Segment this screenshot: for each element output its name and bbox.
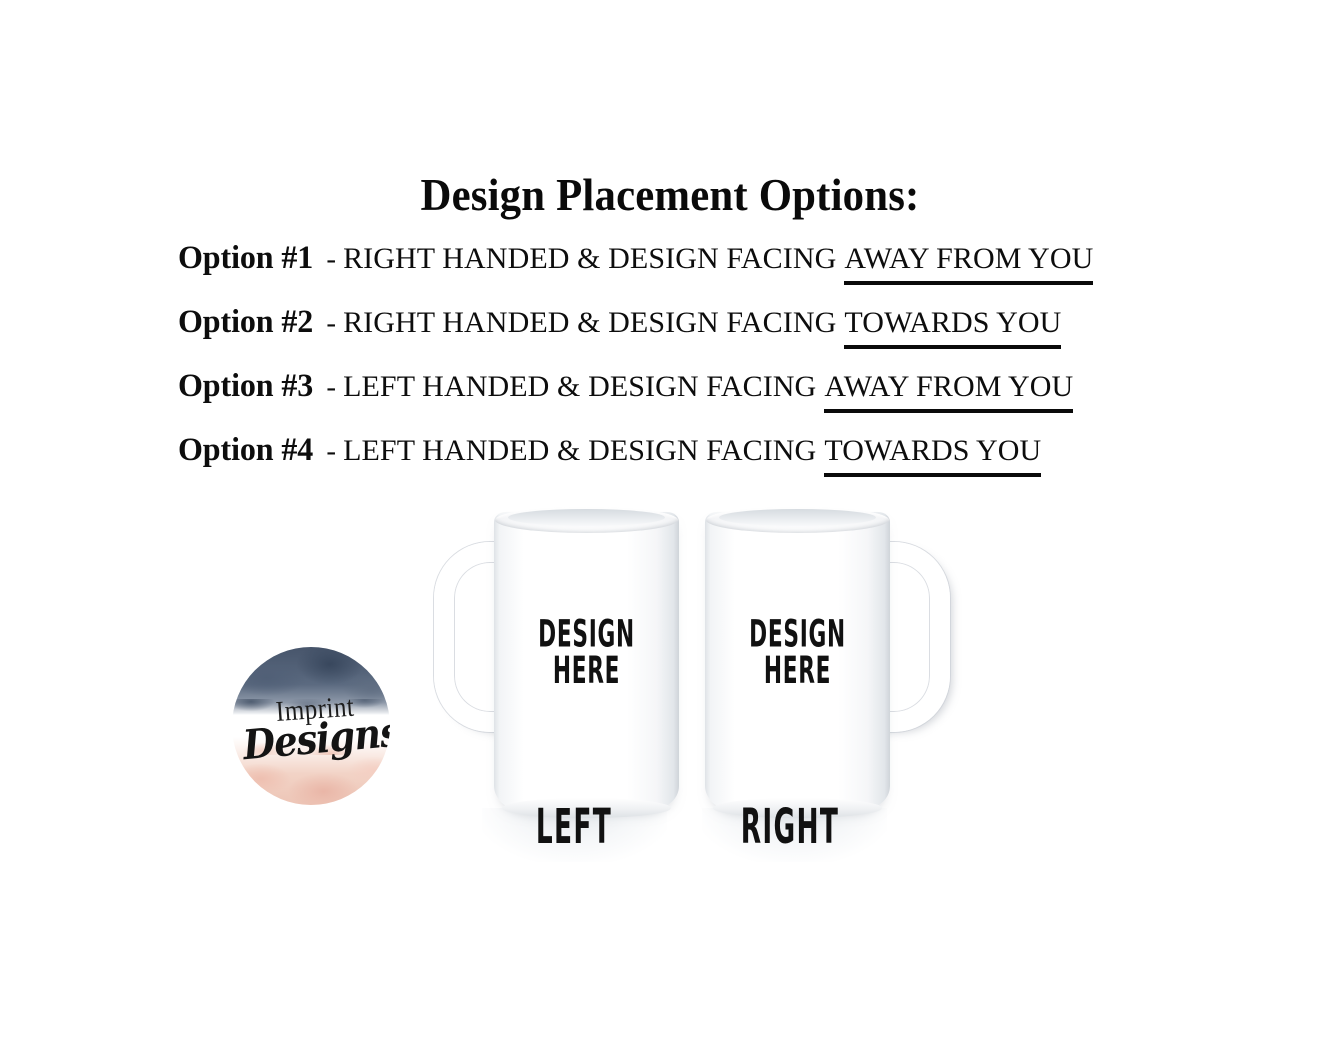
option-emphasis: AWAY FROM YOU (824, 370, 1073, 413)
option-label: Option #4 (178, 432, 313, 469)
page-title: Design Placement Options: (47, 168, 1293, 221)
design-placement-option-list: Option #1 - RIGHT HANDED & DESIGN FACING… (178, 240, 1168, 496)
option-emphasis: AWAY FROM YOU (844, 242, 1093, 285)
mug-caption-left: LEFT (508, 800, 640, 855)
mug-rim-inner (719, 509, 876, 526)
option-description: LEFT HANDED & DESIGN FACING (343, 370, 816, 404)
imprint-designs-logo: Imprint Designs (232, 647, 390, 805)
option-dash: - (317, 243, 343, 276)
option-description: RIGHT HANDED & DESIGN FACING (343, 306, 836, 340)
mug-left-handed: DESIGN HERE (432, 512, 692, 842)
mug-rim (706, 507, 889, 533)
option-description: LEFT HANDED & DESIGN FACING (343, 434, 816, 468)
option-row: Option #2 - RIGHT HANDED & DESIGN FACING… (178, 304, 1168, 368)
option-label: Option #2 (178, 304, 313, 341)
mug-rim (495, 507, 678, 533)
option-label: Option #1 (178, 240, 313, 277)
mug-design-placeholder-text: DESIGN HERE (733, 616, 863, 690)
mug-design-placeholder-text: DESIGN HERE (522, 616, 652, 690)
option-row: Option #1 - RIGHT HANDED & DESIGN FACING… (178, 240, 1168, 304)
mug-body: DESIGN HERE (494, 512, 679, 812)
option-label: Option #3 (178, 368, 313, 405)
option-row: Option #4 - LEFT HANDED & DESIGN FACING … (178, 432, 1168, 496)
mug-rim-inner (508, 509, 665, 526)
option-description: RIGHT HANDED & DESIGN FACING (343, 242, 836, 276)
option-dash: - (317, 435, 343, 468)
option-emphasis: TOWARDS YOU (844, 306, 1061, 349)
option-emphasis: TOWARDS YOU (824, 434, 1041, 477)
mug-right-handed: DESIGN HERE (692, 512, 952, 842)
option-dash: - (317, 307, 343, 340)
option-row: Option #3 - LEFT HANDED & DESIGN FACING … (178, 368, 1168, 432)
option-dash: - (317, 371, 343, 404)
mug-body: DESIGN HERE (705, 512, 890, 812)
mug-caption-right: RIGHT (724, 800, 856, 855)
